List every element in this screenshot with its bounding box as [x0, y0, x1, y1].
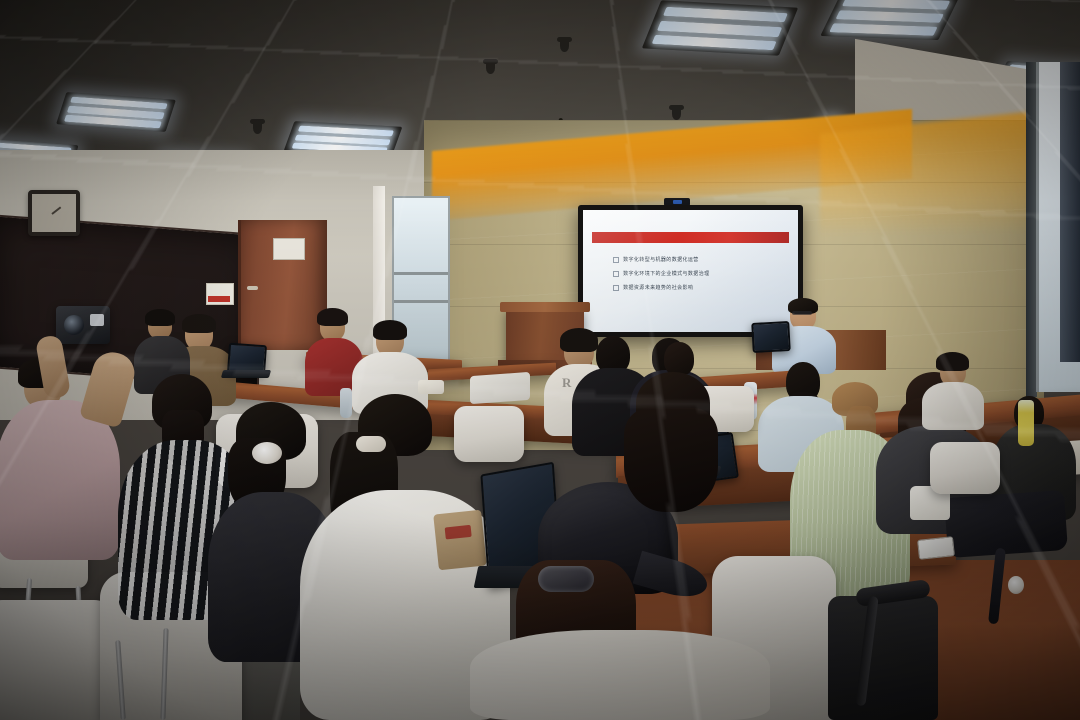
troffer-light-icon: [820, 0, 959, 40]
shirt-print-letter: R: [562, 375, 574, 391]
door-notice: [273, 238, 305, 260]
seminar-room-photo: 数字化转型与机器的数据化运营 数字化环境下的企业模式与数据治理 数据资源未来趋势…: [0, 0, 1080, 720]
bag-charm: [1008, 576, 1024, 594]
sprinkler-icon: [560, 40, 569, 52]
paper-stack: [470, 372, 530, 404]
laptop-keyboard[interactable]: [221, 370, 271, 378]
sprinkler-icon: [672, 108, 681, 120]
wall-placard: [206, 283, 234, 305]
beaded-hair-tie: [538, 566, 594, 592]
hair: [145, 309, 175, 326]
door-handle-icon[interactable]: [247, 286, 258, 290]
body: [470, 630, 770, 720]
chair[interactable]: [828, 596, 938, 720]
smartphone[interactable]: [917, 536, 955, 560]
sprinkler-icon: [486, 62, 495, 74]
chair[interactable]: [454, 406, 524, 462]
hair: [182, 314, 216, 333]
presentation-slide: 数字化转型与机器的数据化运营 数字化环境下的企业模式与数据治理 数据资源未来趋势…: [583, 210, 798, 332]
hair-tie: [356, 436, 386, 452]
screen-glare: [583, 210, 798, 332]
flat-panel-display[interactable]: 数字化转型与机器的数据化运营 数字化环境下的企业模式与数据治理 数据资源未来趋势…: [578, 205, 803, 337]
body: [0, 400, 120, 560]
presenter-laptop[interactable]: [751, 321, 791, 353]
lectern-top: [500, 302, 590, 312]
chair[interactable]: [930, 442, 1000, 494]
wall-clock-icon: [28, 190, 80, 236]
tea-bottle[interactable]: [1018, 400, 1034, 446]
camera-lens-icon: [64, 315, 84, 335]
hair-length: [624, 408, 718, 512]
presenter-glasses-icon: [792, 311, 812, 315]
hair: [560, 328, 598, 352]
notebook: [418, 380, 444, 394]
sprinkler-icon: [253, 122, 262, 134]
handbag[interactable]: [944, 490, 1068, 558]
hair: [664, 342, 694, 376]
troffer-light-icon: [642, 0, 798, 55]
window-blind[interactable]: [1060, 62, 1080, 362]
hair-scrunchie: [252, 442, 282, 464]
entry-door[interactable]: [238, 220, 327, 350]
tote-logo: [445, 525, 472, 540]
hair: [317, 308, 348, 326]
camera-screen: [90, 314, 104, 326]
hair: [936, 352, 969, 371]
hair: [373, 320, 407, 340]
tote-bag: [433, 510, 487, 571]
body: [922, 382, 984, 430]
camera[interactable]: [56, 306, 110, 344]
water-bottle[interactable]: [340, 388, 352, 418]
